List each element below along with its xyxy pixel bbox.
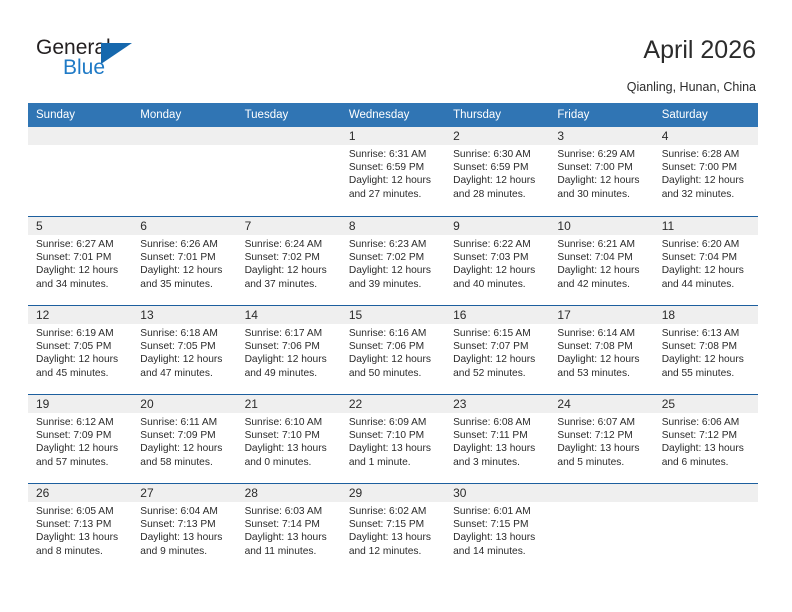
day-number: 25 — [662, 396, 675, 413]
day-details: Sunrise: 6:02 AM Sunset: 7:15 PM Dayligh… — [341, 502, 445, 558]
day-details: Sunrise: 6:15 AM Sunset: 7:07 PM Dayligh… — [445, 324, 549, 380]
day-details: Sunrise: 6:14 AM Sunset: 7:08 PM Dayligh… — [549, 324, 653, 380]
date-band — [341, 127, 445, 145]
calendar-week-row: 26Sunrise: 6:05 AM Sunset: 7:13 PM Dayli… — [28, 483, 758, 572]
day-number: 3 — [557, 128, 564, 145]
day-details — [132, 145, 236, 148]
day-number: 18 — [662, 307, 675, 324]
day-number: 13 — [140, 307, 153, 324]
day-cell[interactable]: 12Sunrise: 6:19 AM Sunset: 7:05 PM Dayli… — [28, 306, 132, 393]
day-cell[interactable]: 11Sunrise: 6:20 AM Sunset: 7:04 PM Dayli… — [654, 217, 758, 304]
weekday-header-tuesday: Tuesday — [237, 103, 341, 127]
day-cell[interactable]: 20Sunrise: 6:11 AM Sunset: 7:09 PM Dayli… — [132, 395, 236, 482]
day-cell[interactable] — [237, 127, 341, 214]
day-number: 16 — [453, 307, 466, 324]
day-number: 5 — [36, 218, 43, 235]
day-cell[interactable]: 21Sunrise: 6:10 AM Sunset: 7:10 PM Dayli… — [237, 395, 341, 482]
weekday-header-saturday: Saturday — [654, 103, 758, 127]
day-cell[interactable]: 19Sunrise: 6:12 AM Sunset: 7:09 PM Dayli… — [28, 395, 132, 482]
day-cell[interactable]: 4Sunrise: 6:28 AM Sunset: 7:00 PM Daylig… — [654, 127, 758, 214]
day-details — [549, 502, 653, 505]
page-title: April 2026 — [643, 36, 756, 65]
day-number: 28 — [245, 485, 258, 502]
date-band — [445, 127, 549, 145]
weekday-header-wednesday: Wednesday — [341, 103, 445, 127]
weekday-header-thursday: Thursday — [445, 103, 549, 127]
day-cell[interactable] — [28, 127, 132, 214]
date-band — [237, 127, 341, 145]
day-details: Sunrise: 6:23 AM Sunset: 7:02 PM Dayligh… — [341, 235, 445, 291]
day-cell[interactable]: 13Sunrise: 6:18 AM Sunset: 7:05 PM Dayli… — [132, 306, 236, 393]
day-number: 26 — [36, 485, 49, 502]
day-cell[interactable]: 14Sunrise: 6:17 AM Sunset: 7:06 PM Dayli… — [237, 306, 341, 393]
day-cell[interactable]: 3Sunrise: 6:29 AM Sunset: 7:00 PM Daylig… — [549, 127, 653, 214]
day-cell[interactable]: 18Sunrise: 6:13 AM Sunset: 7:08 PM Dayli… — [654, 306, 758, 393]
day-details: Sunrise: 6:07 AM Sunset: 7:12 PM Dayligh… — [549, 413, 653, 469]
day-details — [28, 145, 132, 148]
day-details: Sunrise: 6:20 AM Sunset: 7:04 PM Dayligh… — [654, 235, 758, 291]
day-number: 23 — [453, 396, 466, 413]
day-cell[interactable] — [549, 484, 653, 571]
date-band — [132, 217, 236, 235]
day-cell[interactable]: 28Sunrise: 6:03 AM Sunset: 7:14 PM Dayli… — [237, 484, 341, 571]
day-details: Sunrise: 6:29 AM Sunset: 7:00 PM Dayligh… — [549, 145, 653, 201]
date-band — [237, 217, 341, 235]
day-details: Sunrise: 6:10 AM Sunset: 7:10 PM Dayligh… — [237, 413, 341, 469]
day-cell[interactable]: 15Sunrise: 6:16 AM Sunset: 7:06 PM Dayli… — [341, 306, 445, 393]
day-number: 14 — [245, 307, 258, 324]
day-details: Sunrise: 6:17 AM Sunset: 7:06 PM Dayligh… — [237, 324, 341, 380]
day-details: Sunrise: 6:24 AM Sunset: 7:02 PM Dayligh… — [237, 235, 341, 291]
calendar-page: General Blue April 2026 Qianling, Hunan,… — [0, 0, 792, 612]
day-details: Sunrise: 6:27 AM Sunset: 7:01 PM Dayligh… — [28, 235, 132, 291]
day-cell[interactable]: 25Sunrise: 6:06 AM Sunset: 7:12 PM Dayli… — [654, 395, 758, 482]
day-number: 30 — [453, 485, 466, 502]
day-number: 15 — [349, 307, 362, 324]
day-details: Sunrise: 6:01 AM Sunset: 7:15 PM Dayligh… — [445, 502, 549, 558]
day-details: Sunrise: 6:19 AM Sunset: 7:05 PM Dayligh… — [28, 324, 132, 380]
page-header: General Blue April 2026 Qianling, Hunan,… — [0, 0, 792, 103]
weekday-header-sunday: Sunday — [28, 103, 132, 127]
day-details — [237, 145, 341, 148]
day-cell[interactable]: 2Sunrise: 6:30 AM Sunset: 6:59 PM Daylig… — [445, 127, 549, 214]
day-details: Sunrise: 6:08 AM Sunset: 7:11 PM Dayligh… — [445, 413, 549, 469]
day-number: 2 — [453, 128, 460, 145]
calendar-week-row: 19Sunrise: 6:12 AM Sunset: 7:09 PM Dayli… — [28, 394, 758, 483]
calendar-week-row: 5Sunrise: 6:27 AM Sunset: 7:01 PM Daylig… — [28, 216, 758, 305]
day-details: Sunrise: 6:21 AM Sunset: 7:04 PM Dayligh… — [549, 235, 653, 291]
calendar-week-row: 12Sunrise: 6:19 AM Sunset: 7:05 PM Dayli… — [28, 305, 758, 394]
day-cell[interactable]: 1Sunrise: 6:31 AM Sunset: 6:59 PM Daylig… — [341, 127, 445, 214]
day-number: 20 — [140, 396, 153, 413]
day-number: 17 — [557, 307, 570, 324]
day-details: Sunrise: 6:16 AM Sunset: 7:06 PM Dayligh… — [341, 324, 445, 380]
day-details: Sunrise: 6:12 AM Sunset: 7:09 PM Dayligh… — [28, 413, 132, 469]
logo-text-blue: Blue — [63, 56, 105, 80]
day-details: Sunrise: 6:30 AM Sunset: 6:59 PM Dayligh… — [445, 145, 549, 201]
day-cell[interactable] — [132, 127, 236, 214]
date-band — [549, 127, 653, 145]
day-details: Sunrise: 6:06 AM Sunset: 7:12 PM Dayligh… — [654, 413, 758, 469]
date-band — [28, 217, 132, 235]
day-cell[interactable]: 6Sunrise: 6:26 AM Sunset: 7:01 PM Daylig… — [132, 217, 236, 304]
day-number: 22 — [349, 396, 362, 413]
day-cell[interactable]: 8Sunrise: 6:23 AM Sunset: 7:02 PM Daylig… — [341, 217, 445, 304]
day-cell[interactable]: 9Sunrise: 6:22 AM Sunset: 7:03 PM Daylig… — [445, 217, 549, 304]
day-cell[interactable]: 27Sunrise: 6:04 AM Sunset: 7:13 PM Dayli… — [132, 484, 236, 571]
day-details: Sunrise: 6:31 AM Sunset: 6:59 PM Dayligh… — [341, 145, 445, 201]
date-band — [445, 217, 549, 235]
calendar-grid: Sunday Monday Tuesday Wednesday Thursday… — [28, 103, 758, 572]
day-number: 27 — [140, 485, 153, 502]
day-details: Sunrise: 6:22 AM Sunset: 7:03 PM Dayligh… — [445, 235, 549, 291]
general-blue-logo[interactable]: General Blue — [36, 36, 146, 82]
day-number: 21 — [245, 396, 258, 413]
day-details: Sunrise: 6:04 AM Sunset: 7:13 PM Dayligh… — [132, 502, 236, 558]
day-number: 1 — [349, 128, 356, 145]
weekday-header-row: Sunday Monday Tuesday Wednesday Thursday… — [28, 103, 758, 127]
date-band — [654, 127, 758, 145]
weekday-header-friday: Friday — [549, 103, 653, 127]
date-band — [341, 217, 445, 235]
day-cell[interactable]: 23Sunrise: 6:08 AM Sunset: 7:11 PM Dayli… — [445, 395, 549, 482]
date-band — [28, 127, 132, 145]
day-details: Sunrise: 6:05 AM Sunset: 7:13 PM Dayligh… — [28, 502, 132, 558]
day-number: 8 — [349, 218, 356, 235]
day-details: Sunrise: 6:09 AM Sunset: 7:10 PM Dayligh… — [341, 413, 445, 469]
calendar-week-row: 1Sunrise: 6:31 AM Sunset: 6:59 PM Daylig… — [28, 127, 758, 216]
logo-triangle-icon — [101, 43, 132, 64]
day-details: Sunrise: 6:28 AM Sunset: 7:00 PM Dayligh… — [654, 145, 758, 201]
day-cell[interactable]: 26Sunrise: 6:05 AM Sunset: 7:13 PM Dayli… — [28, 484, 132, 571]
day-number: 19 — [36, 396, 49, 413]
day-cell[interactable]: 29Sunrise: 6:02 AM Sunset: 7:15 PM Dayli… — [341, 484, 445, 571]
day-number: 7 — [245, 218, 252, 235]
day-number: 4 — [662, 128, 669, 145]
day-cell[interactable]: 17Sunrise: 6:14 AM Sunset: 7:08 PM Dayli… — [549, 306, 653, 393]
day-details: Sunrise: 6:13 AM Sunset: 7:08 PM Dayligh… — [654, 324, 758, 380]
location-subtitle: Qianling, Hunan, China — [627, 80, 756, 94]
day-cell[interactable]: 7Sunrise: 6:24 AM Sunset: 7:02 PM Daylig… — [237, 217, 341, 304]
day-cell[interactable]: 22Sunrise: 6:09 AM Sunset: 7:10 PM Dayli… — [341, 395, 445, 482]
date-band — [654, 484, 758, 502]
day-number: 24 — [557, 396, 570, 413]
day-cell[interactable]: 16Sunrise: 6:15 AM Sunset: 7:07 PM Dayli… — [445, 306, 549, 393]
day-cell[interactable]: 10Sunrise: 6:21 AM Sunset: 7:04 PM Dayli… — [549, 217, 653, 304]
day-number: 11 — [662, 218, 674, 235]
day-number: 6 — [140, 218, 147, 235]
day-number: 9 — [453, 218, 460, 235]
day-cell[interactable] — [654, 484, 758, 571]
day-details: Sunrise: 6:03 AM Sunset: 7:14 PM Dayligh… — [237, 502, 341, 558]
day-number: 29 — [349, 485, 362, 502]
day-cell[interactable]: 5Sunrise: 6:27 AM Sunset: 7:01 PM Daylig… — [28, 217, 132, 304]
date-band — [132, 127, 236, 145]
day-number: 12 — [36, 307, 49, 324]
day-details: Sunrise: 6:18 AM Sunset: 7:05 PM Dayligh… — [132, 324, 236, 380]
weekday-header-monday: Monday — [132, 103, 236, 127]
date-band — [549, 484, 653, 502]
day-number: 10 — [557, 218, 570, 235]
day-details: Sunrise: 6:26 AM Sunset: 7:01 PM Dayligh… — [132, 235, 236, 291]
day-details: Sunrise: 6:11 AM Sunset: 7:09 PM Dayligh… — [132, 413, 236, 469]
day-cell[interactable]: 24Sunrise: 6:07 AM Sunset: 7:12 PM Dayli… — [549, 395, 653, 482]
day-details — [654, 502, 758, 505]
day-cell[interactable]: 30Sunrise: 6:01 AM Sunset: 7:15 PM Dayli… — [445, 484, 549, 571]
